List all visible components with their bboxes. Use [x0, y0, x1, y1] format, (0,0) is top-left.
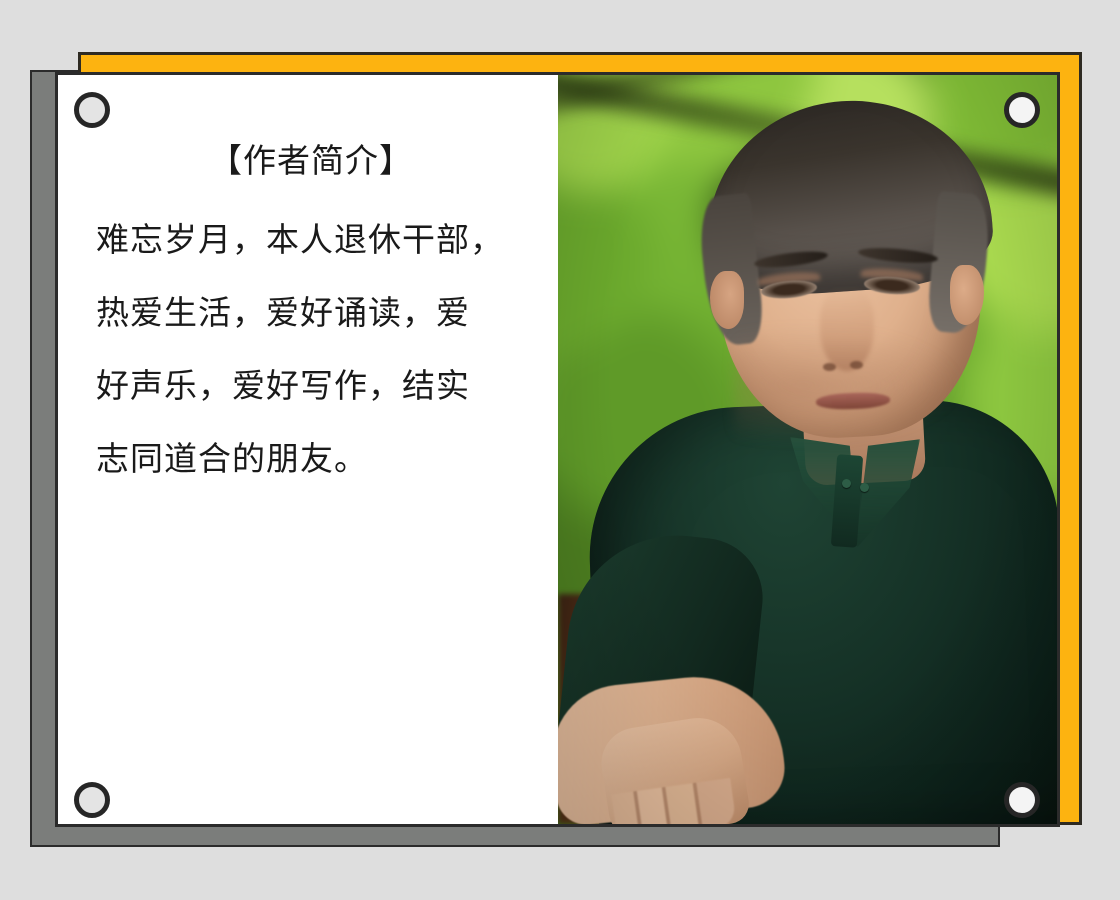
author-bio-line-3: 好声乐，爱好写作，结实: [90, 349, 532, 422]
author-bio-heading: 【作者简介】: [90, 141, 532, 181]
author-profile-card: 【作者简介】 难忘岁月，本人退休干部， 热爱生活，爱好诵读，爱 好声乐，爱好写作…: [55, 72, 1060, 827]
screw-top-right-icon: [1004, 92, 1040, 128]
nose: [820, 287, 874, 371]
screw-bottom-left-icon: [74, 782, 110, 818]
author-photograph: [558, 75, 1057, 824]
ear-left: [710, 271, 744, 329]
poster-stage: 【作者简介】 难忘岁月，本人退休干部， 热爱生活，爱好诵读，爱 好声乐，爱好写作…: [0, 0, 1120, 900]
person-figure: [558, 75, 1057, 824]
nostril-left: [823, 363, 836, 371]
screw-top-left-icon: [74, 92, 110, 128]
author-bio-line-4: 志同道合的朋友。: [90, 422, 532, 495]
author-text-panel: 【作者简介】 难忘岁月，本人退休干部， 热爱生活，爱好诵读，爱 好声乐，爱好写作…: [58, 75, 558, 824]
author-bio-line-2: 热爱生活，爱好诵读，爱: [90, 276, 532, 349]
author-bio-line-1: 难忘岁月，本人退休干部，: [90, 203, 532, 276]
nostril-right: [850, 361, 863, 369]
polo-button-upper: [842, 479, 851, 488]
screw-bottom-right-icon: [1004, 782, 1040, 818]
polo-button-lower: [860, 483, 869, 492]
